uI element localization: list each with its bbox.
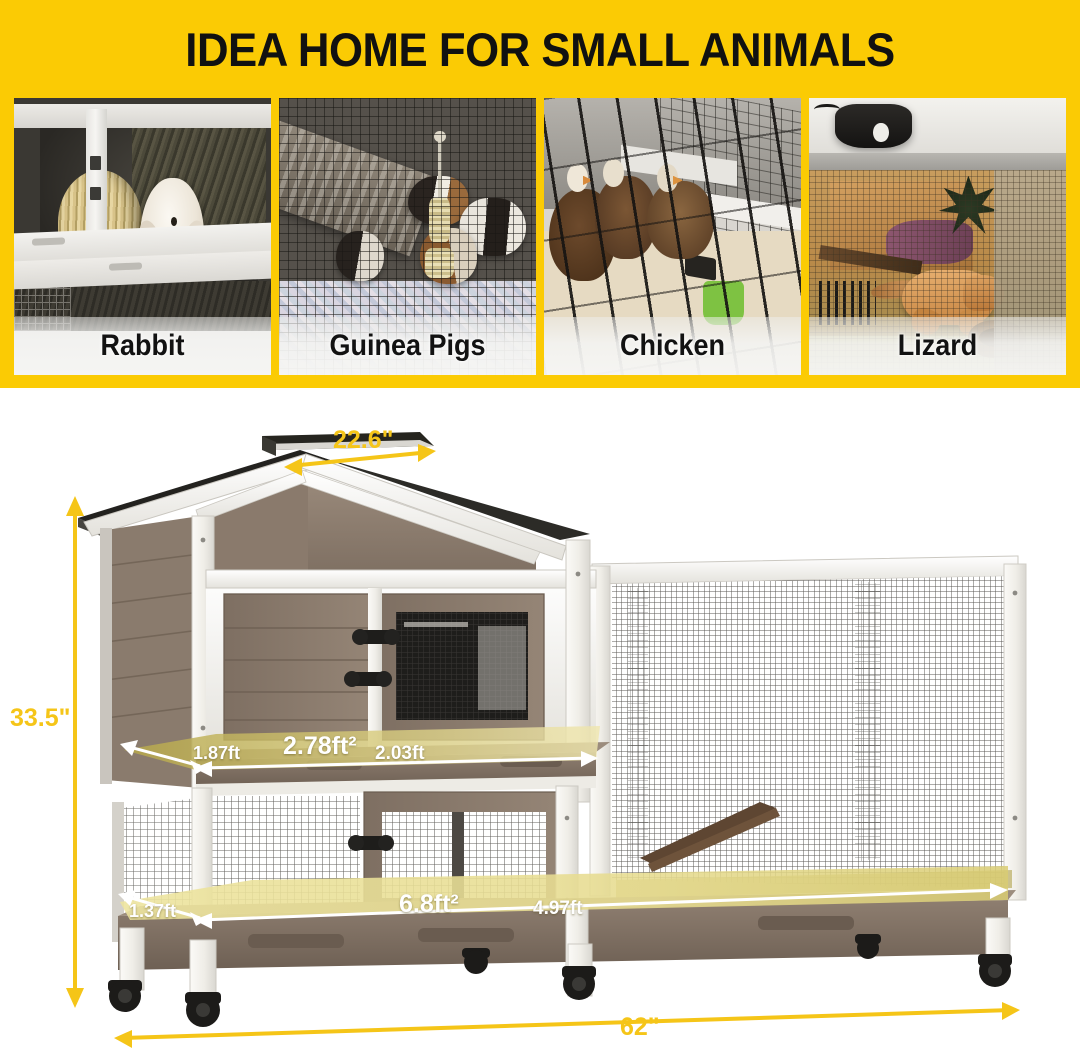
animal-photo-gallery: Rabbit Guinea Pigs [14, 98, 1066, 375]
page-title: IDEA HOME FOR SMALL ANIMALS [38, 22, 1042, 77]
upper-door-latch-top [352, 629, 400, 645]
photo-label-guinea-pigs: Guinea Pigs [292, 317, 523, 375]
photo-card-rabbit: Rabbit [14, 98, 271, 375]
dimension-label-height: 33.5" [10, 704, 71, 733]
dimension-label-depth: 22.6" [333, 426, 394, 455]
photo-label-lizard: Lizard [822, 317, 1053, 375]
dimension-label-lower-area: 6.8ft² [399, 890, 459, 919]
caster-wheel [185, 992, 221, 1027]
photo-label-rabbit: Rabbit [27, 317, 258, 375]
dimension-label-lower-width: 4.97ft [533, 898, 583, 920]
upper-door-latch-bottom [344, 671, 392, 687]
photo-card-guinea-pigs: Guinea Pigs [279, 98, 536, 375]
hutch-illustration [0, 388, 1080, 1055]
dimension-label-upper-area: 2.78ft² [283, 732, 357, 761]
caster-wheel [108, 980, 142, 1012]
header-banner: IDEA HOME FOR SMALL ANIMALS [0, 0, 1080, 388]
caster-wheel [978, 954, 1012, 987]
photo-label-chicken: Chicken [557, 317, 788, 375]
dimension-label-upper-depth: 1.87ft [193, 743, 240, 764]
dimension-label-upper-width: 2.03ft [375, 743, 425, 765]
caster-wheel [462, 948, 490, 974]
dimension-label-lower-depth: 1.37ft [129, 901, 176, 922]
photo-card-chicken: Chicken [544, 98, 801, 375]
dimension-label-width: 62" [620, 1013, 660, 1042]
product-dimension-diagram: 22.6" 33.5" 62" 2.78ft² 2.03ft 1.87ft 6.… [0, 388, 1080, 1055]
lower-door-latch [348, 835, 394, 851]
run-enclosure [590, 556, 1026, 900]
photo-card-lizard: Lizard [809, 98, 1066, 375]
